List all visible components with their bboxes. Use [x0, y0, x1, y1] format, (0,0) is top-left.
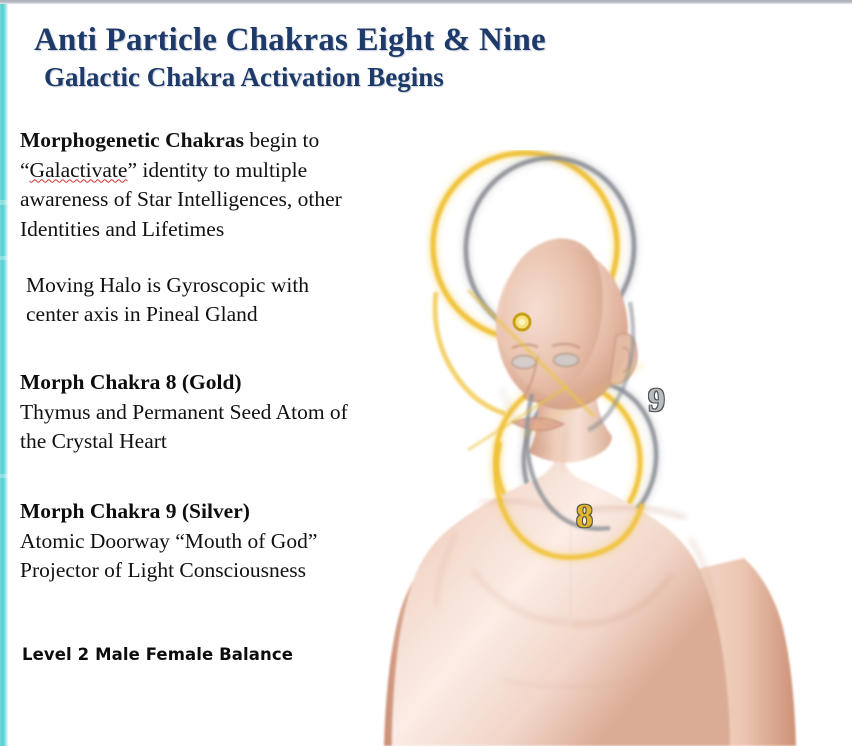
paragraph-text: awareness of Star Intelligences, other — [20, 187, 342, 211]
paragraph-text: ” identity to multiple — [127, 158, 307, 182]
stripe-highlight-segment — [0, 200, 8, 205]
footnote-level-2-balance: Level 2 Male Female Balance — [22, 645, 293, 664]
paragraph-text: begin to — [244, 128, 319, 152]
misspelled-word-galactivate: Galactivate — [30, 158, 128, 182]
slide-canvas: Anti Particle Chakras Eight & Nine Galac… — [0, 0, 852, 746]
paragraph-text: Thymus and Permanent Seed Atom of — [20, 400, 348, 424]
quote-open: “ — [20, 158, 30, 182]
chest-shape — [392, 446, 730, 746]
eye-right — [554, 354, 579, 367]
sternum-line — [570, 522, 571, 618]
pineal-gland-point-core — [519, 319, 526, 326]
paragraph-text: Identities and Lifetimes — [20, 217, 224, 241]
top-border — [0, 0, 852, 4]
eye-left — [512, 356, 536, 369]
slide-title: Anti Particle Chakras Eight & Nine — [34, 22, 654, 59]
left-accent-stripe — [0, 4, 8, 746]
figure-svg — [372, 150, 852, 746]
paragraph-text: Projector of Light Consciousness — [20, 558, 306, 582]
stripe-highlight-segment — [0, 474, 8, 478]
paragraph-lead-phrase: Morphogenetic Chakras — [20, 128, 244, 152]
stripe-highlight-segment — [0, 256, 8, 260]
paragraph-text: center axis in Pineal Gland — [26, 302, 258, 326]
paragraph-text: Atomic Doorway “Mouth of God” — [20, 529, 317, 553]
paragraph-text: the Crystal Heart — [20, 429, 167, 453]
gold-halo-tail-left — [435, 292, 506, 414]
slide-subtitle: Galactic Chakra Activation Begins — [44, 62, 654, 93]
paragraph-text: Moving Halo is Gyroscopic with — [26, 273, 309, 297]
anatomy-figure: 8 9 — [372, 150, 852, 746]
title-block: Anti Particle Chakras Eight & Nine Galac… — [34, 22, 654, 93]
